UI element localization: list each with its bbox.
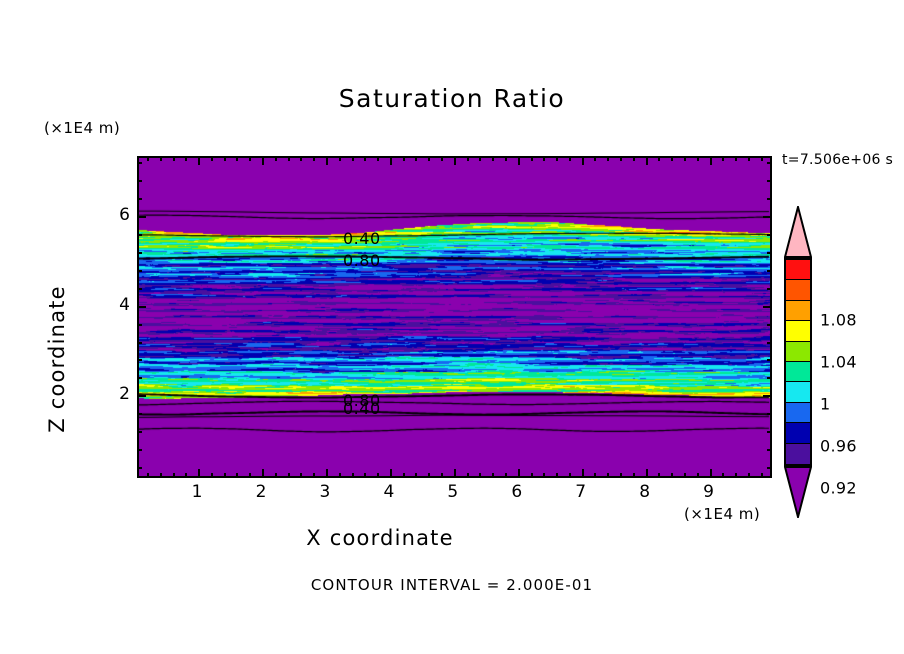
y-tick-minor — [137, 234, 142, 236]
x-tick-minor — [352, 473, 354, 478]
x-tick-minor — [224, 473, 226, 478]
x-tick-major-top — [198, 156, 200, 165]
x-tick-minor — [441, 473, 443, 478]
contour-level-label: 0.40 — [343, 399, 381, 418]
colorbar-tick-label: 1.08 — [820, 311, 857, 330]
x-tick-major — [262, 469, 264, 478]
x-tick-minor — [620, 473, 622, 478]
y-tick-minor-right — [767, 198, 772, 200]
y-tick-minor — [137, 431, 142, 433]
x-tick-minor-top — [313, 156, 315, 161]
x-tick-minor — [173, 473, 175, 478]
page-title: Saturation Ratio — [0, 84, 904, 113]
x-tick-minor — [633, 473, 635, 478]
time-stamp-label: t=7.506e+06 s — [782, 152, 893, 168]
colorbar-band — [786, 403, 810, 423]
x-tick-minor-top — [441, 156, 443, 161]
y-tick-minor-right — [767, 342, 772, 344]
colorbar-band — [786, 260, 810, 280]
x-tick-minor — [339, 473, 341, 478]
x-tick-major — [582, 469, 584, 478]
x-tick-minor-top — [543, 156, 545, 161]
x-tick-minor — [288, 473, 290, 478]
y-tick-label: 4 — [108, 295, 130, 315]
contour-level-label: 0.80 — [343, 251, 381, 270]
x-tick-minor-top — [467, 156, 469, 161]
x-tick-label: 5 — [447, 482, 458, 502]
colorbar-band — [786, 423, 810, 443]
y-tick-major — [137, 216, 146, 218]
y-tick-minor-right — [767, 377, 772, 379]
colorbar-over-arrow-icon — [784, 206, 812, 258]
x-tick-minor-top — [173, 156, 175, 161]
x-tick-minor-top — [735, 156, 737, 161]
y-tick-major-right — [763, 306, 772, 308]
x-tick-label: 3 — [320, 482, 331, 502]
y-tick-minor — [137, 270, 142, 272]
x-tick-minor — [697, 473, 699, 478]
y-tick-minor — [137, 180, 142, 182]
x-tick-minor-top — [684, 156, 686, 161]
x-tick-minor-top — [492, 156, 494, 161]
x-tick-label: 1 — [192, 482, 203, 502]
x-tick-minor — [415, 473, 417, 478]
x-tick-minor-top — [403, 156, 405, 161]
colorbar-band — [786, 301, 810, 321]
x-tick-minor — [658, 473, 660, 478]
x-tick-major-top — [262, 156, 264, 165]
x-tick-major-top — [646, 156, 648, 165]
x-tick-major-top — [390, 156, 392, 165]
x-tick-major — [198, 469, 200, 478]
y-tick-minor — [137, 359, 142, 361]
contour-plot-area[interactable] — [137, 156, 772, 478]
x-tick-minor-top — [607, 156, 609, 161]
x-tick-minor — [594, 473, 596, 478]
x-tick-minor — [313, 473, 315, 478]
contour-level-label: 0.40 — [343, 229, 381, 248]
x-tick-minor-top — [761, 156, 763, 161]
x-tick-minor — [735, 473, 737, 478]
x-tick-minor — [403, 473, 405, 478]
x-tick-major — [646, 469, 648, 478]
x-tick-minor-top — [339, 156, 341, 161]
x-tick-minor-top — [594, 156, 596, 161]
x-tick-major — [710, 469, 712, 478]
x-tick-minor-top — [236, 156, 238, 161]
x-tick-minor — [722, 473, 724, 478]
x-tick-label: 9 — [703, 482, 714, 502]
x-tick-minor-top — [377, 156, 379, 161]
y-tick-minor-right — [767, 324, 772, 326]
x-tick-minor — [556, 473, 558, 478]
x-tick-minor-top — [556, 156, 558, 161]
y-tick-minor-right — [767, 252, 772, 254]
y-tick-major — [137, 306, 146, 308]
x-tick-major — [454, 469, 456, 478]
y-tick-major — [137, 395, 146, 397]
x-tick-minor — [492, 473, 494, 478]
x-tick-minor-top — [620, 156, 622, 161]
y-tick-minor — [137, 288, 142, 290]
x-tick-minor-top — [211, 156, 213, 161]
y-tick-label: 2 — [108, 384, 130, 404]
x-tick-minor-top — [505, 156, 507, 161]
y-tick-minor-right — [767, 288, 772, 290]
x-tick-minor-top — [428, 156, 430, 161]
contour-interval-caption: CONTOUR INTERVAL = 2.000E-01 — [0, 576, 904, 594]
x-tick-minor — [761, 473, 763, 478]
x-tick-label: 4 — [383, 482, 394, 502]
x-tick-minor — [543, 473, 545, 478]
y-tick-minor-right — [767, 162, 772, 164]
x-tick-minor-top — [300, 156, 302, 161]
x-tick-minor-top — [288, 156, 290, 161]
y-tick-minor — [137, 252, 142, 254]
x-tick-minor-top — [185, 156, 187, 161]
x-tick-minor — [531, 473, 533, 478]
y-tick-major-right — [763, 395, 772, 397]
x-tick-label: 7 — [575, 482, 586, 502]
x-tick-minor-top — [479, 156, 481, 161]
y-axis-title: Z coordinate — [45, 259, 69, 459]
x-tick-minor-top — [697, 156, 699, 161]
x-tick-major-top — [518, 156, 520, 165]
x-tick-minor-top — [364, 156, 366, 161]
x-tick-minor-top — [531, 156, 533, 161]
y-tick-minor — [137, 162, 142, 164]
colorbar-band — [786, 321, 810, 341]
x-tick-label: 8 — [639, 482, 650, 502]
x-tick-major-top — [710, 156, 712, 165]
y-tick-minor-right — [767, 359, 772, 361]
x-tick-minor — [671, 473, 673, 478]
x-tick-label: 2 — [256, 482, 267, 502]
colorbar-band — [786, 280, 810, 300]
y-tick-minor — [137, 324, 142, 326]
colorbar-tick-label: 0.96 — [820, 437, 857, 456]
y-tick-major-right — [763, 216, 772, 218]
y-tick-minor — [137, 198, 142, 200]
y-tick-minor — [137, 449, 142, 451]
x-tick-minor-top — [722, 156, 724, 161]
x-tick-major — [390, 469, 392, 478]
x-tick-minor — [684, 473, 686, 478]
x-tick-minor — [160, 473, 162, 478]
x-tick-minor — [467, 473, 469, 478]
y-axis-unit-label: (×1E4 m) — [44, 119, 120, 137]
colorbar-band — [786, 444, 810, 464]
y-tick-minor-right — [767, 449, 772, 451]
y-tick-minor-right — [767, 431, 772, 433]
colorbar[interactable]: 1.081.0410.960.92 — [780, 206, 900, 518]
x-tick-minor — [479, 473, 481, 478]
x-tick-minor-top — [658, 156, 660, 161]
x-tick-minor-top — [224, 156, 226, 161]
y-tick-minor — [137, 342, 142, 344]
y-tick-minor — [137, 377, 142, 379]
x-tick-minor — [249, 473, 251, 478]
x-tick-minor — [748, 473, 750, 478]
x-tick-minor — [275, 473, 277, 478]
x-tick-major — [518, 469, 520, 478]
colorbar-band — [786, 342, 810, 362]
x-tick-minor-top — [671, 156, 673, 161]
x-tick-minor — [505, 473, 507, 478]
x-axis-title: X coordinate — [0, 526, 760, 550]
x-tick-minor — [428, 473, 430, 478]
x-tick-minor — [607, 473, 609, 478]
x-tick-minor-top — [415, 156, 417, 161]
x-tick-minor — [147, 473, 149, 478]
y-tick-minor-right — [767, 270, 772, 272]
x-tick-minor-top — [275, 156, 277, 161]
x-tick-major — [326, 469, 328, 478]
x-tick-minor — [364, 473, 366, 478]
x-tick-minor-top — [569, 156, 571, 161]
y-tick-minor-right — [767, 234, 772, 236]
y-tick-minor — [137, 413, 142, 415]
contour-field-canvas — [139, 158, 770, 476]
x-tick-major-top — [454, 156, 456, 165]
x-tick-minor — [236, 473, 238, 478]
colorbar-band — [786, 382, 810, 402]
x-tick-label: 6 — [511, 482, 522, 502]
x-tick-minor — [185, 473, 187, 478]
colorbar-bands — [784, 258, 812, 466]
x-tick-minor — [211, 473, 213, 478]
x-tick-minor — [569, 473, 571, 478]
y-tick-minor-right — [767, 467, 772, 469]
colorbar-under-arrow-icon — [784, 466, 812, 518]
colorbar-tick-label: 1.04 — [820, 353, 857, 372]
x-tick-minor-top — [147, 156, 149, 161]
y-tick-label: 6 — [108, 205, 130, 225]
x-axis-unit-label: (×1E4 m) — [684, 505, 760, 523]
y-tick-minor — [137, 467, 142, 469]
x-tick-minor-top — [160, 156, 162, 161]
x-tick-minor — [377, 473, 379, 478]
x-tick-minor-top — [748, 156, 750, 161]
colorbar-band — [786, 362, 810, 382]
colorbar-tick-label: 0.92 — [820, 479, 857, 498]
x-tick-minor — [300, 473, 302, 478]
x-tick-major-top — [326, 156, 328, 165]
y-tick-minor-right — [767, 180, 772, 182]
colorbar-tick-label: 1 — [820, 395, 830, 414]
x-tick-minor-top — [352, 156, 354, 161]
x-tick-minor-top — [633, 156, 635, 161]
x-tick-minor-top — [249, 156, 251, 161]
x-tick-major-top — [582, 156, 584, 165]
y-tick-minor-right — [767, 413, 772, 415]
